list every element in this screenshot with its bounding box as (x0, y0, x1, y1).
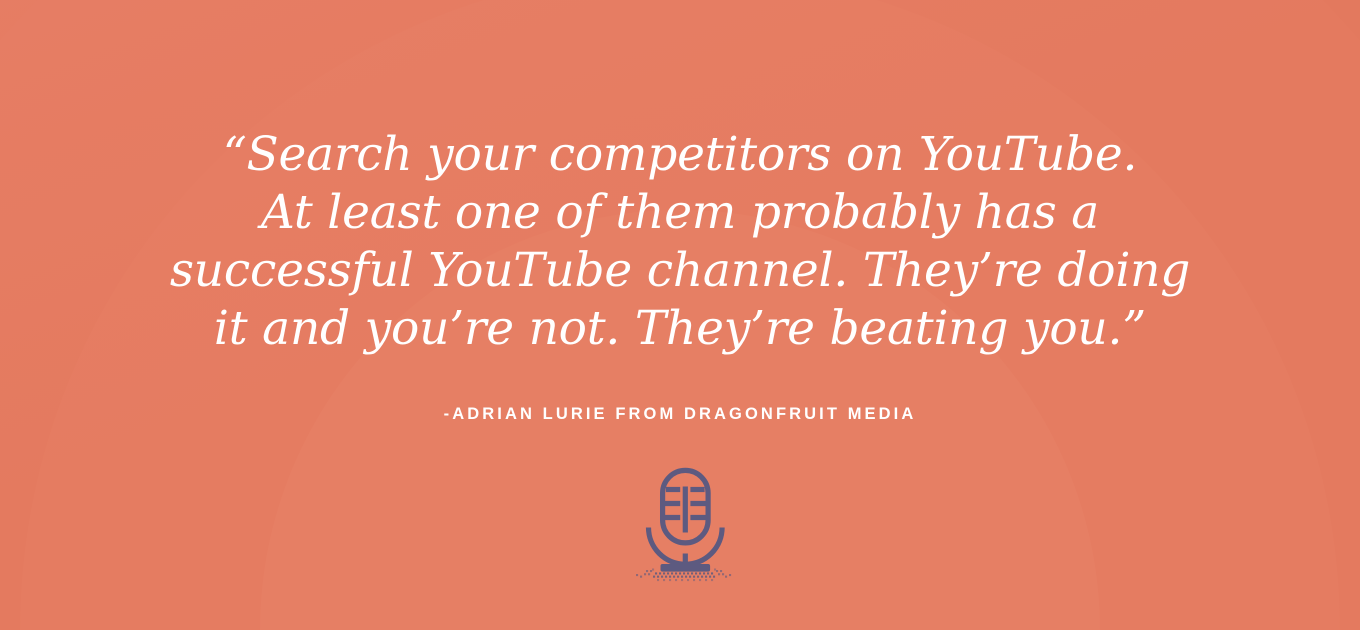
microphone-glyph (628, 458, 742, 582)
microphone-icon (628, 458, 742, 582)
card-content: “Search your competitors on YouTube. At … (0, 0, 1360, 630)
quote-attribution: -ADRIAN LURIE FROM DRAGONFRUIT MEDIA (0, 403, 1360, 425)
quote-text: “Search your competitors on YouTube. At … (0, 126, 1360, 358)
quote-card: “Search your competitors on YouTube. At … (0, 0, 1360, 630)
microphone-base (661, 564, 711, 572)
